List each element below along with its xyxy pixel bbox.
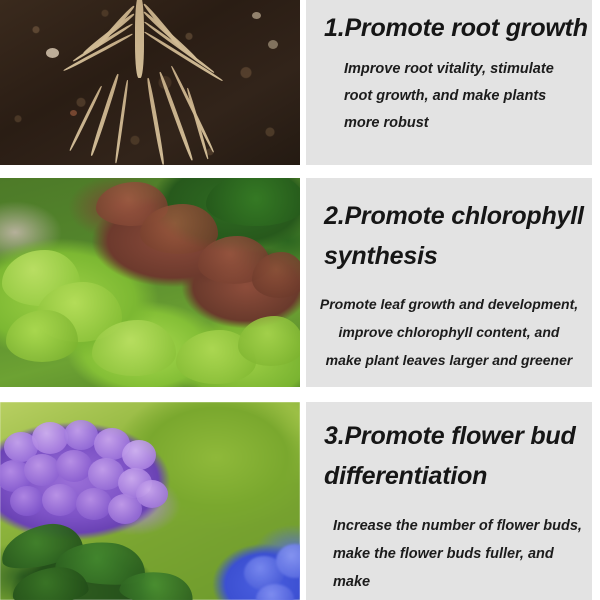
hydrangea-floret: [56, 450, 92, 482]
section-body: Promote leaf growth and development, imp…: [306, 290, 592, 374]
section-root-growth: 1.Promote root growth Improve root vital…: [0, 0, 600, 165]
section-flower-bud-differentiation: 3.Promote flower bud differentiation Inc…: [0, 402, 600, 600]
text-panel-chlorophyll-synthesis: 2.Promote chlorophyll synthesis Promote …: [306, 178, 592, 387]
purple-hydrangea-photo: [0, 402, 300, 600]
hydrangea-floret: [136, 480, 168, 508]
soil-pebble: [46, 48, 59, 58]
soil-pebble: [268, 40, 278, 49]
hydrangea-floret: [76, 488, 112, 520]
soil-pebble: [252, 12, 261, 19]
section-chlorophyll-synthesis: 2.Promote chlorophyll synthesis Promote …: [0, 178, 600, 387]
lettuce-garden-photo: [0, 178, 300, 387]
hydrangea-floret: [42, 484, 78, 516]
hydrangea-floret: [24, 454, 60, 486]
text-panel-flower-bud-differentiation: 3.Promote flower bud differentiation Inc…: [306, 402, 592, 600]
section-body: Increase the number of flower buds, make…: [333, 512, 592, 600]
hydrangea-floret: [122, 440, 156, 470]
text-panel-root-growth: 1.Promote root growth Improve root vital…: [306, 0, 592, 165]
hydrangea-floret: [32, 422, 68, 454]
section-title: 1.Promote root growth: [324, 8, 588, 48]
hydrangea-floret: [10, 486, 44, 516]
benefits-infographic: 1.Promote root growth Improve root vital…: [0, 0, 600, 600]
section-title: 2.Promote chlorophyll synthesis: [324, 196, 584, 276]
soil-pebble: [70, 110, 77, 116]
background-foliage: [206, 178, 300, 226]
hydrangea-floret: [64, 420, 98, 450]
plant-roots-in-soil-photo: [0, 0, 300, 165]
section-body: Improve root vitality, stimulate root gr…: [344, 56, 554, 137]
section-title: 3.Promote flower bud differentiation: [324, 416, 576, 496]
